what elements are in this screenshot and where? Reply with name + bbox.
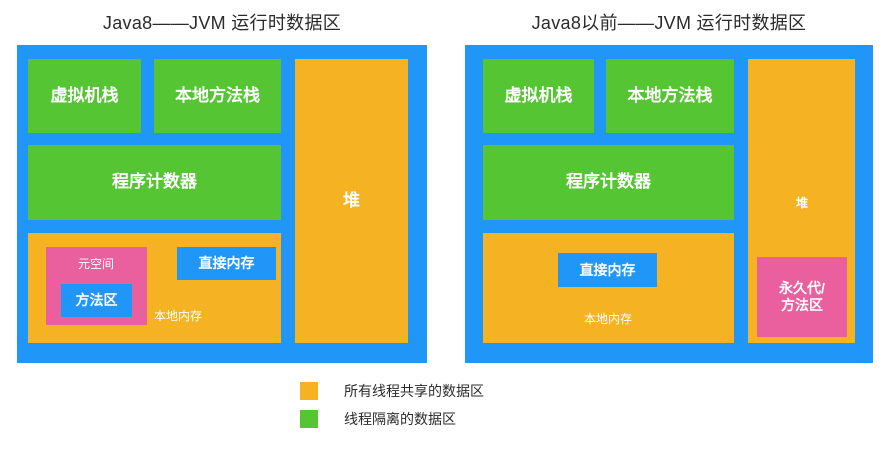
box-native-memory-java8: 本地内存 元空间 方法区 直接内存 [28, 233, 281, 343]
diagram-title-java8: Java8——JVM 运行时数据区 [17, 9, 427, 35]
legend-swatch-thread-private-icon [300, 410, 318, 428]
diagram-title-pre-java8: Java8以前——JVM 运行时数据区 [465, 9, 873, 35]
permgen-label-line2: 方法区 [781, 297, 823, 314]
box-heap-java8: 堆 [295, 59, 408, 343]
box-native-method-stack-java8: 本地方法栈 [154, 59, 281, 133]
jvm-memory-diagram: Java8——JVM 运行时数据区 虚拟机栈 本地方法栈 程序计数器 本地内存 … [0, 0, 885, 452]
label-native-memory-pre-java8: 本地内存 [584, 312, 632, 326]
jvm-runtime-data-area-java8: 虚拟机栈 本地方法栈 程序计数器 本地内存 元空间 方法区 直接内存 堆 [17, 45, 427, 363]
jvm-runtime-data-area-pre-java8: 虚拟机栈 本地方法栈 程序计数器 本地内存 直接内存 堆 永久代/ 方法区 [465, 45, 873, 363]
legend-item-shared: 所有线程共享的数据区 [300, 377, 620, 405]
box-native-method-stack-pre-java8: 本地方法栈 [606, 59, 734, 133]
box-permgen-method-area-pre-java8: 永久代/ 方法区 [757, 257, 847, 337]
box-direct-memory-java8: 直接内存 [177, 247, 276, 280]
label-metaspace-java8: 元空间 [78, 257, 114, 271]
legend-label-shared: 所有线程共享的数据区 [344, 381, 484, 401]
legend-item-thread-private: 线程隔离的数据区 [300, 405, 620, 433]
box-pc-register-pre-java8: 程序计数器 [483, 145, 734, 220]
legend-swatch-shared-icon [300, 382, 318, 400]
box-heap-pre-java8: 堆 永久代/ 方法区 [748, 59, 855, 343]
legend: 所有线程共享的数据区 线程隔离的数据区 [300, 377, 620, 433]
box-native-memory-pre-java8: 本地内存 直接内存 [483, 233, 734, 343]
box-vm-stack-pre-java8: 虚拟机栈 [483, 59, 594, 133]
box-pc-register-java8: 程序计数器 [28, 145, 281, 220]
box-method-area-java8: 方法区 [61, 284, 132, 317]
box-metaspace-java8: 元空间 方法区 [46, 247, 147, 325]
box-direct-memory-pre-java8: 直接内存 [558, 253, 657, 287]
permgen-label-line1: 永久代/ [779, 280, 825, 297]
box-vm-stack-java8: 虚拟机栈 [28, 59, 141, 133]
legend-label-thread-private: 线程隔离的数据区 [344, 409, 456, 429]
label-heap-pre-java8: 堆 [796, 196, 808, 210]
label-native-memory-java8: 本地内存 [154, 309, 202, 323]
